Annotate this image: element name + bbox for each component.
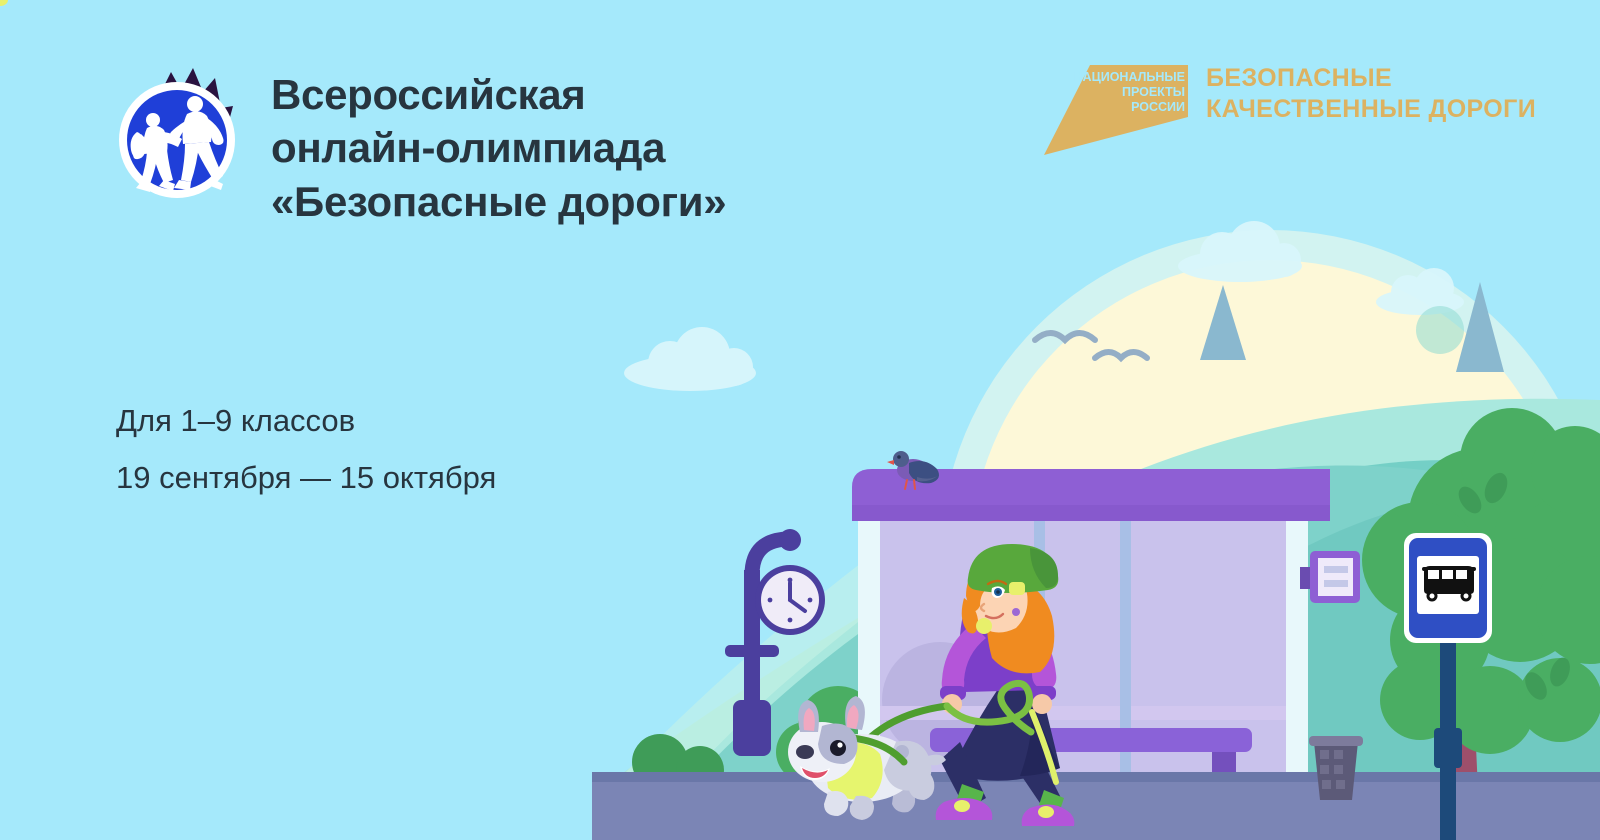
svg-text:НАЦИОНАЛЬНЫЕ: НАЦИОНАЛЬНЫЕ: [1074, 70, 1185, 84]
pedestrian-crossing-emblem-icon: [115, 62, 245, 212]
program-title: БЕЗОПАСНЫЕ КАЧЕСТВЕННЫЕ ДОРОГИ: [1206, 55, 1536, 124]
dates-line: 19 сентября — 15 октября: [116, 449, 496, 506]
grades-line: Для 1–9 классов: [116, 392, 496, 449]
svg-text:РОССИИ: РОССИИ: [1131, 100, 1185, 114]
national-projects-lockup: НАЦИОНАЛЬНЫЕ ПРОЕКТЫ РОССИИ БЕЗОПАСНЫЕ К…: [1038, 55, 1536, 160]
event-details: Для 1–9 классов 19 сентября — 15 октября: [116, 392, 496, 507]
svg-text:ПРОЕКТЫ: ПРОЕКТЫ: [1122, 85, 1185, 99]
olympiad-banner: Всероссийская онлайн-олимпиада «Безопасн…: [0, 0, 1600, 840]
brand-lockup: Всероссийская онлайн-олимпиада «Безопасн…: [115, 62, 815, 228]
national-projects-flag-icon: НАЦИОНАЛЬНЫЕ ПРОЕКТЫ РОССИИ: [1038, 55, 1188, 160]
page-title: Всероссийская онлайн-олимпиада «Безопасн…: [271, 62, 726, 228]
